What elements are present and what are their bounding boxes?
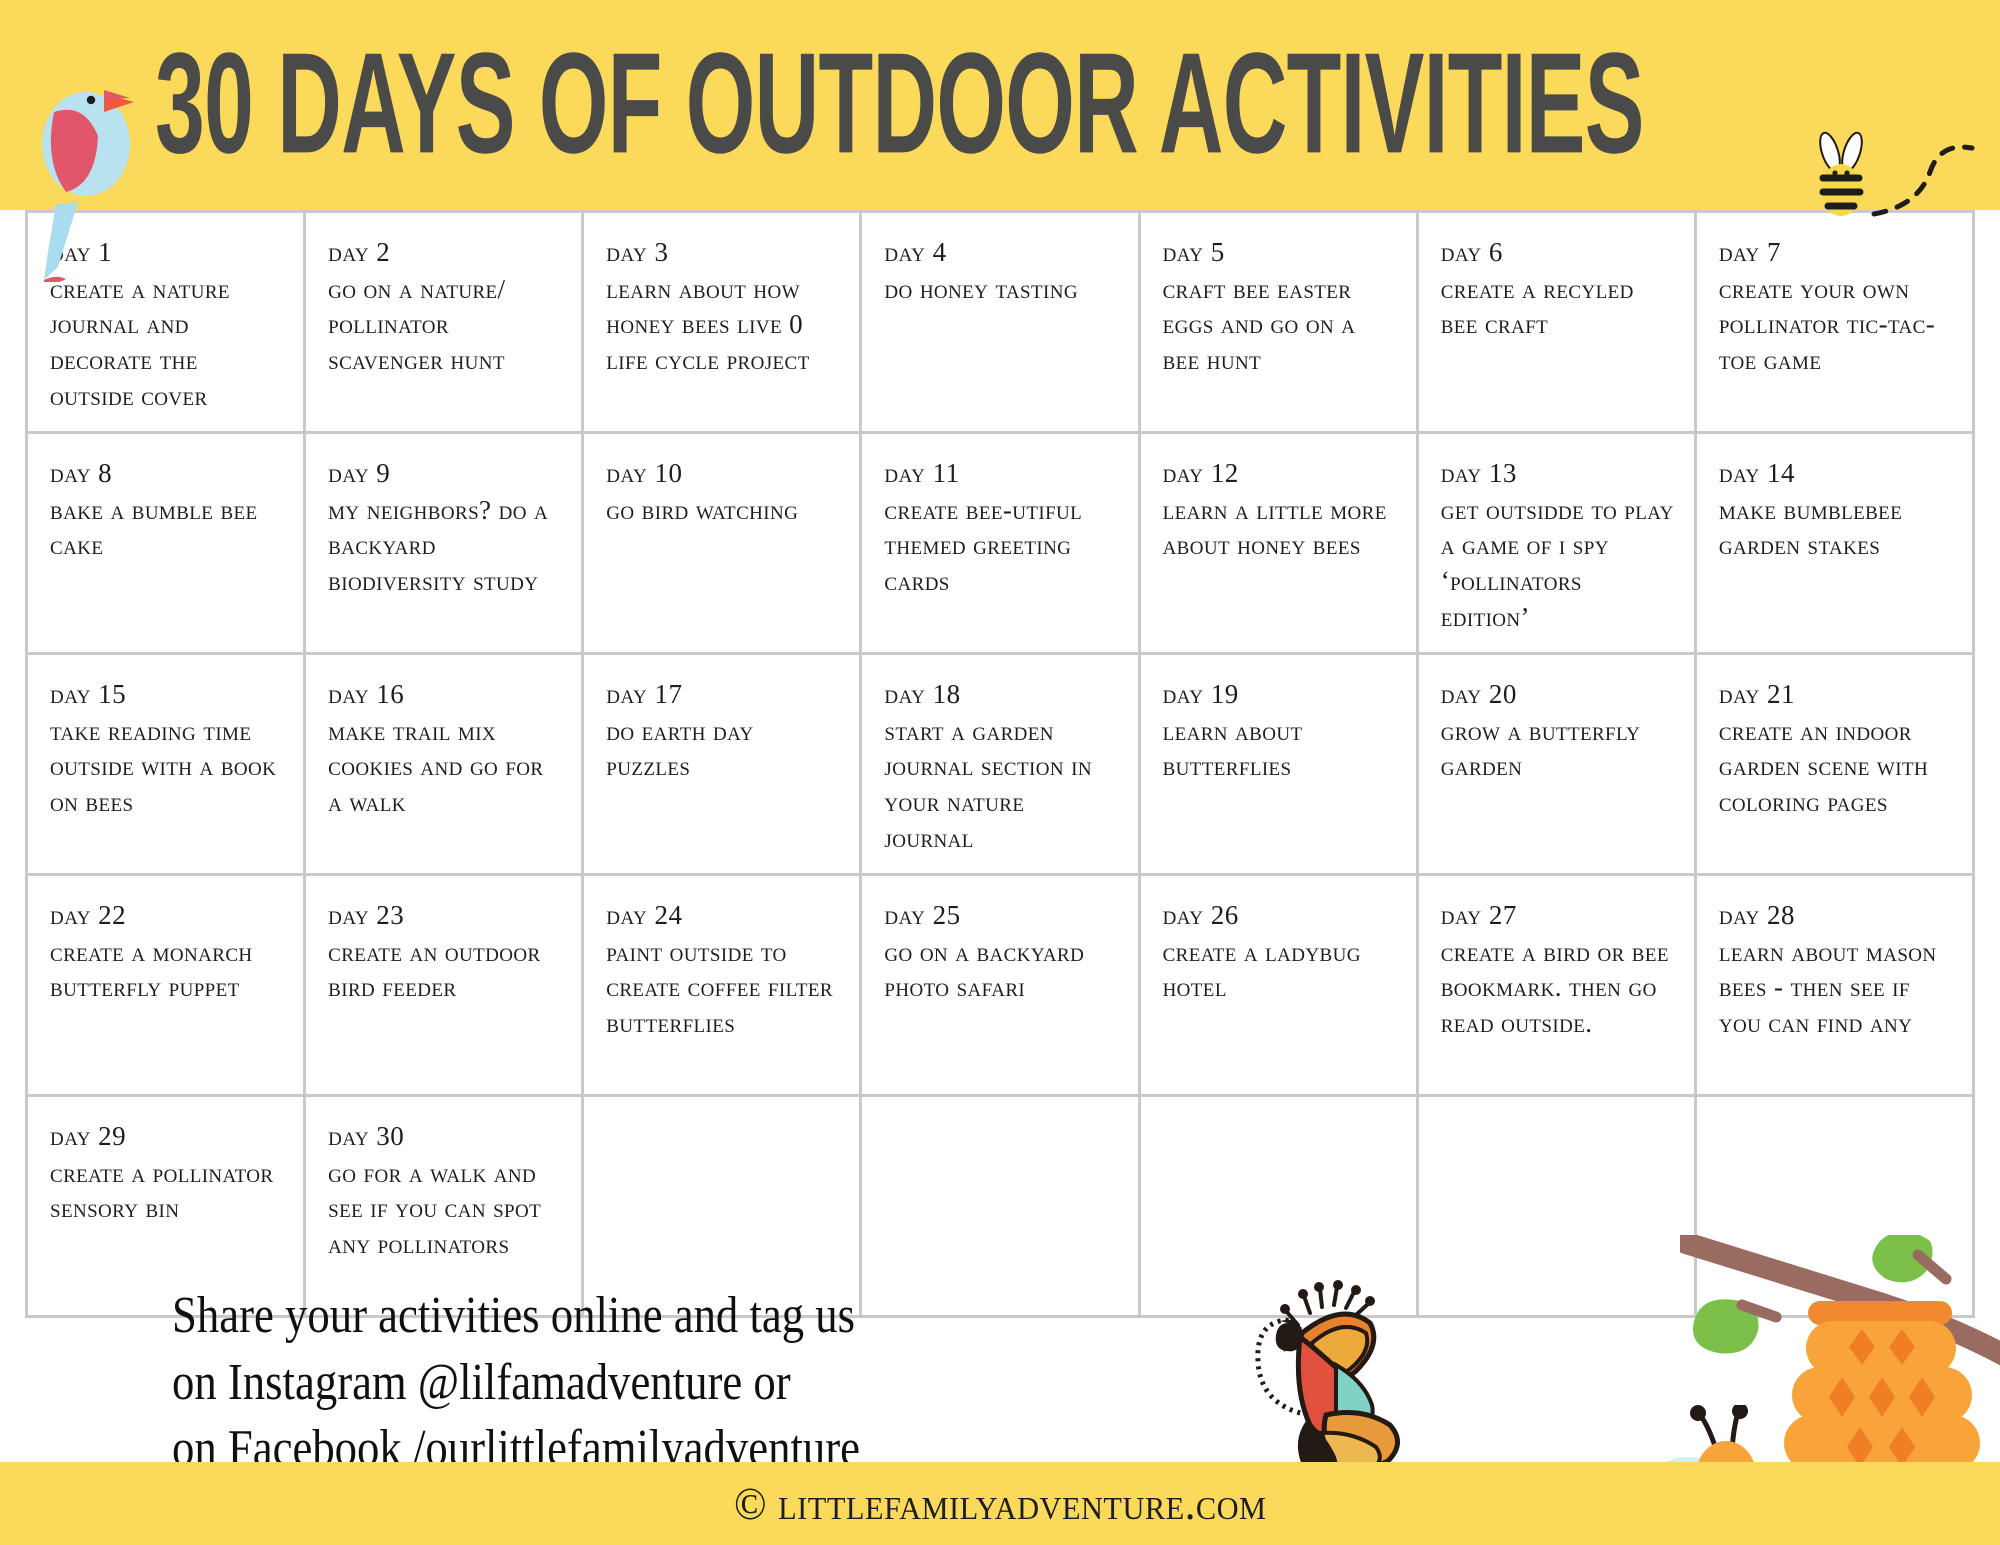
day-activity: Go on a Backyard Photo Safari — [884, 935, 1117, 1006]
bird-icon — [18, 52, 158, 282]
page-title: 30 DAYS OF OUTDOOR ACTIVITIES — [155, 32, 1499, 175]
calendar-cell[interactable]: Day 28Learn about Mason Bees - then see … — [1697, 876, 1972, 1094]
calendar-cell[interactable]: Day 9my neighbors? Do a Backyard Biodive… — [306, 434, 581, 652]
day-label: Day 9 — [328, 456, 561, 492]
calendar-cell[interactable]: Day 16Make Trail Mix Cookies and go for … — [306, 655, 581, 873]
calendar-cell[interactable]: Day 18Start a garden Journal section in … — [862, 655, 1137, 873]
day-activity: Go on a nature/ pollinator Scavenger Hun… — [328, 272, 561, 379]
calendar-cell[interactable]: Day 8Bake a Bumble Bee Cake — [28, 434, 303, 652]
share-line-2: on Instagram @lilfamadventure or — [172, 1350, 860, 1417]
day-activity: Create a Pollinator Sensory Bin — [50, 1156, 283, 1227]
calendar-cell[interactable]: Day 20Grow a Butterfly Garden — [1419, 655, 1694, 873]
calendar-cell[interactable]: Day 17Do Earth Day Puzzles — [584, 655, 859, 873]
day-label: Day 5 — [1163, 235, 1396, 271]
activity-calendar-grid: Day 1Create a nature Journal and decorat… — [25, 210, 1975, 1318]
calendar-cell[interactable]: Day 11Create Bee-utiful themed greeting … — [862, 434, 1137, 652]
day-activity: Create an outdoor bird feeder — [328, 935, 561, 1006]
day-label: Day 25 — [884, 898, 1117, 934]
day-label: Day 2 — [328, 235, 561, 271]
day-label: Day 4 — [884, 235, 1117, 271]
day-label: Day 17 — [606, 677, 839, 713]
copyright-text: © LittleFamilyAdventure.com — [734, 1478, 1267, 1530]
day-label: Day 27 — [1441, 898, 1674, 934]
calendar-cell[interactable]: Day 25Go on a Backyard Photo Safari — [862, 876, 1137, 1094]
calendar-cell[interactable]: Day 12Learn a little More about Honey Be… — [1141, 434, 1416, 652]
day-activity: Create a recyled Bee Craft — [1441, 272, 1674, 343]
day-label: Day 28 — [1719, 898, 1952, 934]
calendar-cell[interactable]: Day 22Create a Monarch Butterfly Puppet — [28, 876, 303, 1094]
day-activity: Learn About How Honey Bees Live 0 Life C… — [606, 272, 839, 379]
day-activity: Create a ladybug hotel — [1163, 935, 1396, 1006]
day-activity: Start a garden Journal section in your n… — [884, 714, 1117, 857]
day-label: Day 24 — [606, 898, 839, 934]
day-label: Day 15 — [50, 677, 283, 713]
day-activity: Make Bumblebee garden Stakes — [1719, 493, 1952, 564]
day-label: Day 23 — [328, 898, 561, 934]
day-label: Day 11 — [884, 456, 1117, 492]
day-label: Day 29 — [50, 1119, 283, 1155]
calendar-cell[interactable]: Day 4Do Honey Tasting — [862, 213, 1137, 431]
day-activity: Bake a Bumble Bee Cake — [50, 493, 283, 564]
day-label: Day 21 — [1719, 677, 1952, 713]
day-label: Day 13 — [1441, 456, 1674, 492]
share-line-1: Share your activities online and tag us — [172, 1283, 860, 1350]
day-label: Day 22 — [50, 898, 283, 934]
day-label: Day 18 — [884, 677, 1117, 713]
calendar-cell[interactable]: Day 24Paint Outside to Create Coffee Fil… — [584, 876, 859, 1094]
bee-icon — [1790, 128, 1980, 228]
day-label: Day 3 — [606, 235, 839, 271]
day-label: Day 8 — [50, 456, 283, 492]
day-activity: Learn About Butterflies — [1163, 714, 1396, 785]
day-activity: Make Trail Mix Cookies and go for a walk — [328, 714, 561, 821]
day-label: Day 30 — [328, 1119, 561, 1155]
calendar-cell[interactable]: Day 27Create a bird or bee bookmark. The… — [1419, 876, 1694, 1094]
day-label: Day 7 — [1719, 235, 1952, 271]
day-activity: Do Honey Tasting — [884, 272, 1117, 308]
day-label: Day 26 — [1163, 898, 1396, 934]
day-activity: Create a Monarch Butterfly Puppet — [50, 935, 283, 1006]
day-activity: Paint Outside to Create Coffee Filter Bu… — [606, 935, 839, 1042]
day-activity: Get Outsidde to PLay a Game of I Spy ‘Po… — [1441, 493, 1674, 636]
day-label: Day 19 — [1163, 677, 1396, 713]
day-activity: Create your own Pollinator Tic-Tac-Toe G… — [1719, 272, 1952, 379]
butterfly-icon — [1230, 1265, 1470, 1495]
day-activity: Go for a walk and see if you can spot an… — [328, 1156, 561, 1263]
day-activity: Go Bird Watching — [606, 493, 839, 529]
day-activity: Take reading time outside with a book on… — [50, 714, 283, 821]
header-banner: 30 DAYS OF OUTDOOR ACTIVITIES — [0, 0, 2000, 210]
day-activity: Create Bee-utiful themed greeting cards — [884, 493, 1117, 600]
day-activity: Create a bird or bee bookmark. Then go r… — [1441, 935, 1674, 1042]
day-activity: my neighbors? Do a Backyard Biodiversity… — [328, 493, 561, 600]
calendar-cell[interactable]: Day 14Make Bumblebee garden Stakes — [1697, 434, 1972, 652]
day-activity: Craft Bee Easter Eggs and Go on a Bee hu… — [1163, 272, 1396, 379]
day-activity: Create a nature Journal and decorate the… — [50, 272, 283, 415]
day-label: Day 6 — [1441, 235, 1674, 271]
calendar-cell[interactable]: Day 3Learn About How Honey Bees Live 0 L… — [584, 213, 859, 431]
day-label: Day 14 — [1719, 456, 1952, 492]
day-activity: Grow a Butterfly Garden — [1441, 714, 1674, 785]
day-label: Day 20 — [1441, 677, 1674, 713]
calendar-cell[interactable]: Day 21Create an indoor garden scene with… — [1697, 655, 1972, 873]
calendar-cell[interactable]: Day 5Craft Bee Easter Eggs and Go on a B… — [1141, 213, 1416, 431]
share-message: Share your activities online and tag us … — [172, 1283, 972, 1483]
calendar-cell[interactable]: Day 7Create your own Pollinator Tic-Tac-… — [1697, 213, 1972, 431]
day-label: Day 10 — [606, 456, 839, 492]
day-activity: Create an indoor garden scene with color… — [1719, 714, 1952, 821]
day-activity: Learn about Mason Bees - then see if you… — [1719, 935, 1952, 1042]
calendar-cell[interactable]: Day 15Take reading time outside with a b… — [28, 655, 303, 873]
day-label: Day 12 — [1163, 456, 1396, 492]
calendar-cell[interactable]: Day 23Create an outdoor bird feeder — [306, 876, 581, 1094]
footer-bar: © LittleFamilyAdventure.com — [0, 1462, 2000, 1545]
calendar-cell[interactable]: Day 6Create a recyled Bee Craft — [1419, 213, 1694, 431]
calendar-cell[interactable]: Day 19Learn About Butterflies — [1141, 655, 1416, 873]
day-activity: Do Earth Day Puzzles — [606, 714, 839, 785]
calendar-cell[interactable]: Day 13Get Outsidde to PLay a Game of I S… — [1419, 434, 1694, 652]
calendar-cell[interactable]: Day 10Go Bird Watching — [584, 434, 859, 652]
day-activity: Learn a little More about Honey Bees — [1163, 493, 1396, 564]
calendar-cell[interactable]: Day 2Go on a nature/ pollinator Scavenge… — [306, 213, 581, 431]
calendar-cell[interactable]: Day 26Create a ladybug hotel — [1141, 876, 1416, 1094]
day-label: Day 16 — [328, 677, 561, 713]
